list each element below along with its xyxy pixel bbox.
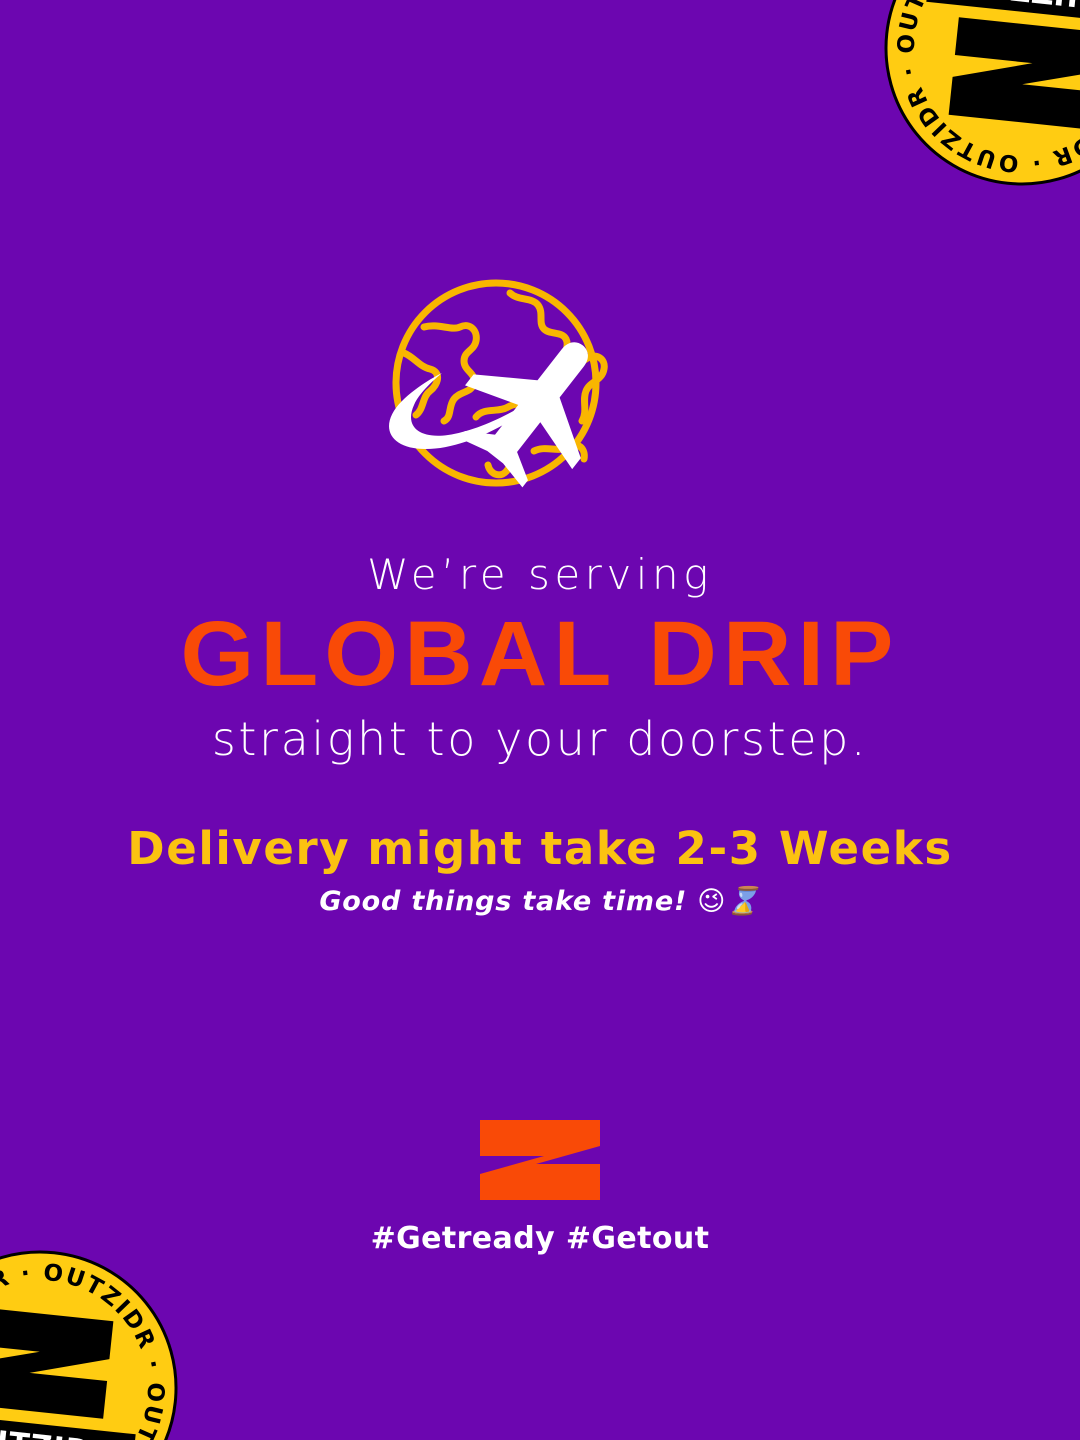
headline-block: We’re serving GLOBAL DRIP straight to yo… <box>0 553 1080 765</box>
page-title: GLOBAL DRIP <box>0 603 1080 706</box>
headline-eyebrow: We’re serving <box>0 553 1080 597</box>
headline-subline: straight to your doorstep. <box>0 714 1080 765</box>
outzidr-z-logo-icon <box>478 1118 602 1202</box>
outzidr-badge-top-right: OUTZIDR · OUTZIDR · OUTZIDR · OUTZIDR · … <box>868 0 1080 202</box>
footer-brand: #Getready #Getout <box>0 1118 1080 1256</box>
delivery-timeframe: Delivery might take 2-3 Weeks <box>0 822 1080 875</box>
delivery-notice: Delivery might take 2-3 Weeks Good thing… <box>0 822 1080 917</box>
globe-airplane-illustration <box>0 265 1080 515</box>
outzidr-badge-bottom-left: OUTZIDR · OUTZIDR · OUTZIDR · OUTZIDR · … <box>0 1234 194 1440</box>
brand-tagline: #Getready #Getout <box>0 1221 1080 1256</box>
poster-canvas: OUTZIDR · OUTZIDR · OUTZIDR · OUTZIDR · … <box>0 0 1080 1440</box>
delivery-reassurance: Good things take time! 😉⌛ <box>0 885 1080 917</box>
